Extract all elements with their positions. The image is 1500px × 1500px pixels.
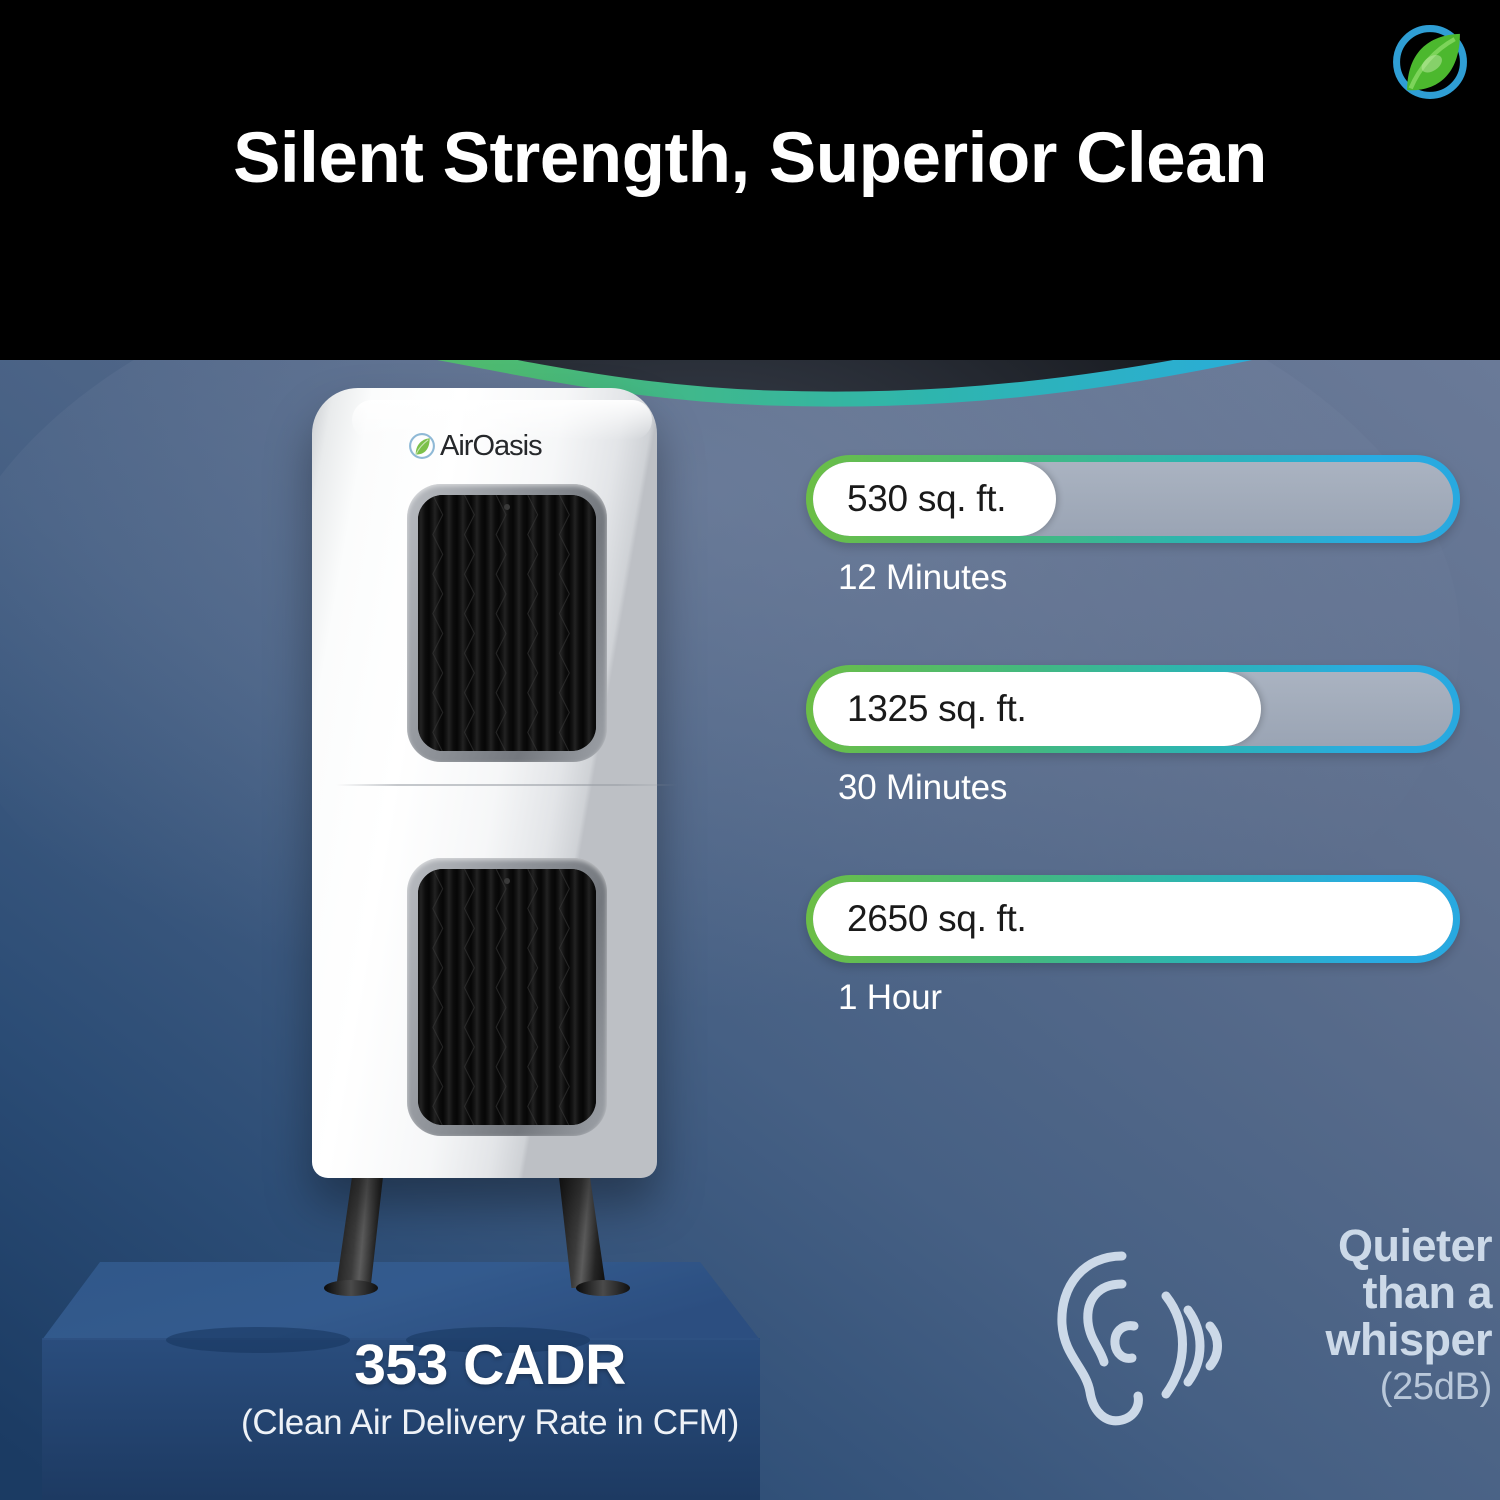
header-band: Silent Strength, Superior Clean — [0, 0, 1500, 360]
coverage-bar[interactable]: 530 sq. ft. — [806, 455, 1460, 543]
coverage-bar-track: 530 sq. ft. — [813, 462, 1453, 536]
cadr-block: 353 CADR (Clean Air Delivery Rate in CFM… — [0, 1332, 980, 1443]
coverage-bar-fill: 2650 sq. ft. — [813, 882, 1453, 956]
noise-line-1: Quieter — [1252, 1222, 1492, 1269]
noise-line-3: whisper — [1252, 1316, 1492, 1363]
page-headline: Silent Strength, Superior Clean — [0, 118, 1500, 199]
product-image: AirOasis — [290, 380, 690, 1210]
metric-row: 530 sq. ft. 12 Minutes — [806, 455, 1466, 598]
coverage-metrics: 530 sq. ft. 12 Minutes 1325 sq. ft. 30 M… — [806, 455, 1466, 1018]
noise-level-text: Quieter than a whisper (25dB) — [1252, 1222, 1492, 1411]
coverage-bar[interactable]: 2650 sq. ft. — [806, 875, 1460, 963]
coverage-bar-value: 2650 sq. ft. — [813, 898, 1026, 940]
leaf-in-circle-logo — [1386, 18, 1474, 106]
filter-grille-top — [407, 484, 607, 762]
coverage-bar[interactable]: 1325 sq. ft. — [806, 665, 1460, 753]
product-foot-left — [324, 1280, 378, 1296]
product-foot-right — [576, 1280, 630, 1296]
metric-row: 1325 sq. ft. 30 Minutes — [806, 665, 1466, 808]
product-body-seam — [336, 784, 677, 786]
filter-grille-bottom — [407, 858, 607, 1136]
metric-row: 2650 sq. ft. 1 Hour — [806, 875, 1466, 1018]
coverage-bar-track: 2650 sq. ft. — [813, 882, 1453, 956]
product-brand-logo: AirOasis — [408, 428, 608, 464]
coverage-bar-fill: 530 sq. ft. — [813, 462, 1056, 536]
coverage-bar-caption: 30 Minutes — [806, 768, 1466, 808]
cadr-title: 353 CADR — [0, 1332, 980, 1398]
ear-with-soundwaves-icon — [1030, 1228, 1245, 1443]
product-body: AirOasis — [312, 388, 657, 1178]
coverage-bar-track: 1325 sq. ft. — [813, 672, 1453, 746]
noise-decibels: (25dB) — [1252, 1363, 1492, 1411]
cadr-subtitle: (Clean Air Delivery Rate in CFM) — [0, 1403, 980, 1443]
noise-level-block: Quieter than a whisper (25dB) — [1030, 1222, 1490, 1462]
product-brand-name: AirOasis — [440, 430, 542, 463]
coverage-bar-fill: 1325 sq. ft. — [813, 672, 1261, 746]
coverage-bar-caption: 1 Hour — [806, 978, 1466, 1018]
leaf-icon — [408, 432, 436, 460]
coverage-bar-caption: 12 Minutes — [806, 558, 1466, 598]
noise-line-2: than a — [1252, 1269, 1492, 1316]
coverage-bar-value: 530 sq. ft. — [813, 478, 1006, 520]
coverage-bar-value: 1325 sq. ft. — [813, 688, 1026, 730]
